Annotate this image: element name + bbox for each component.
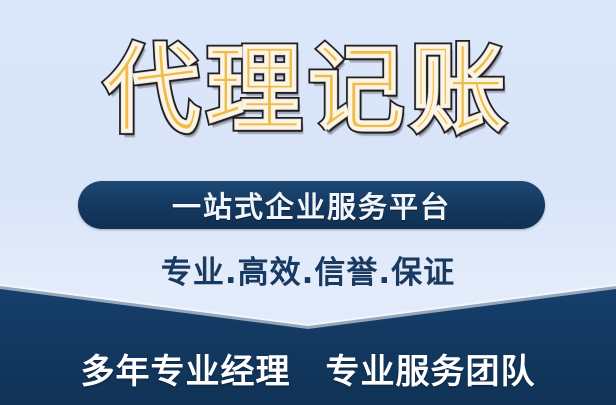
service-banner-text: 一站式企业服务平台 <box>172 184 451 226</box>
footer-text: 多年专业经理 专业服务团队 <box>0 344 616 393</box>
headline-container: 代理记账 代理记账 <box>0 42 616 138</box>
advertisement-poster: 代理记账 代理记账 一站式企业服务平台 专业.高效.信誉.保证 多年专业经理 专… <box>0 0 616 405</box>
tagline-text: 专业.高效.信誉.保证 <box>0 247 616 292</box>
headline-title: 代理记账 <box>104 42 512 138</box>
service-banner-pill: 一站式企业服务平台 <box>78 181 545 229</box>
